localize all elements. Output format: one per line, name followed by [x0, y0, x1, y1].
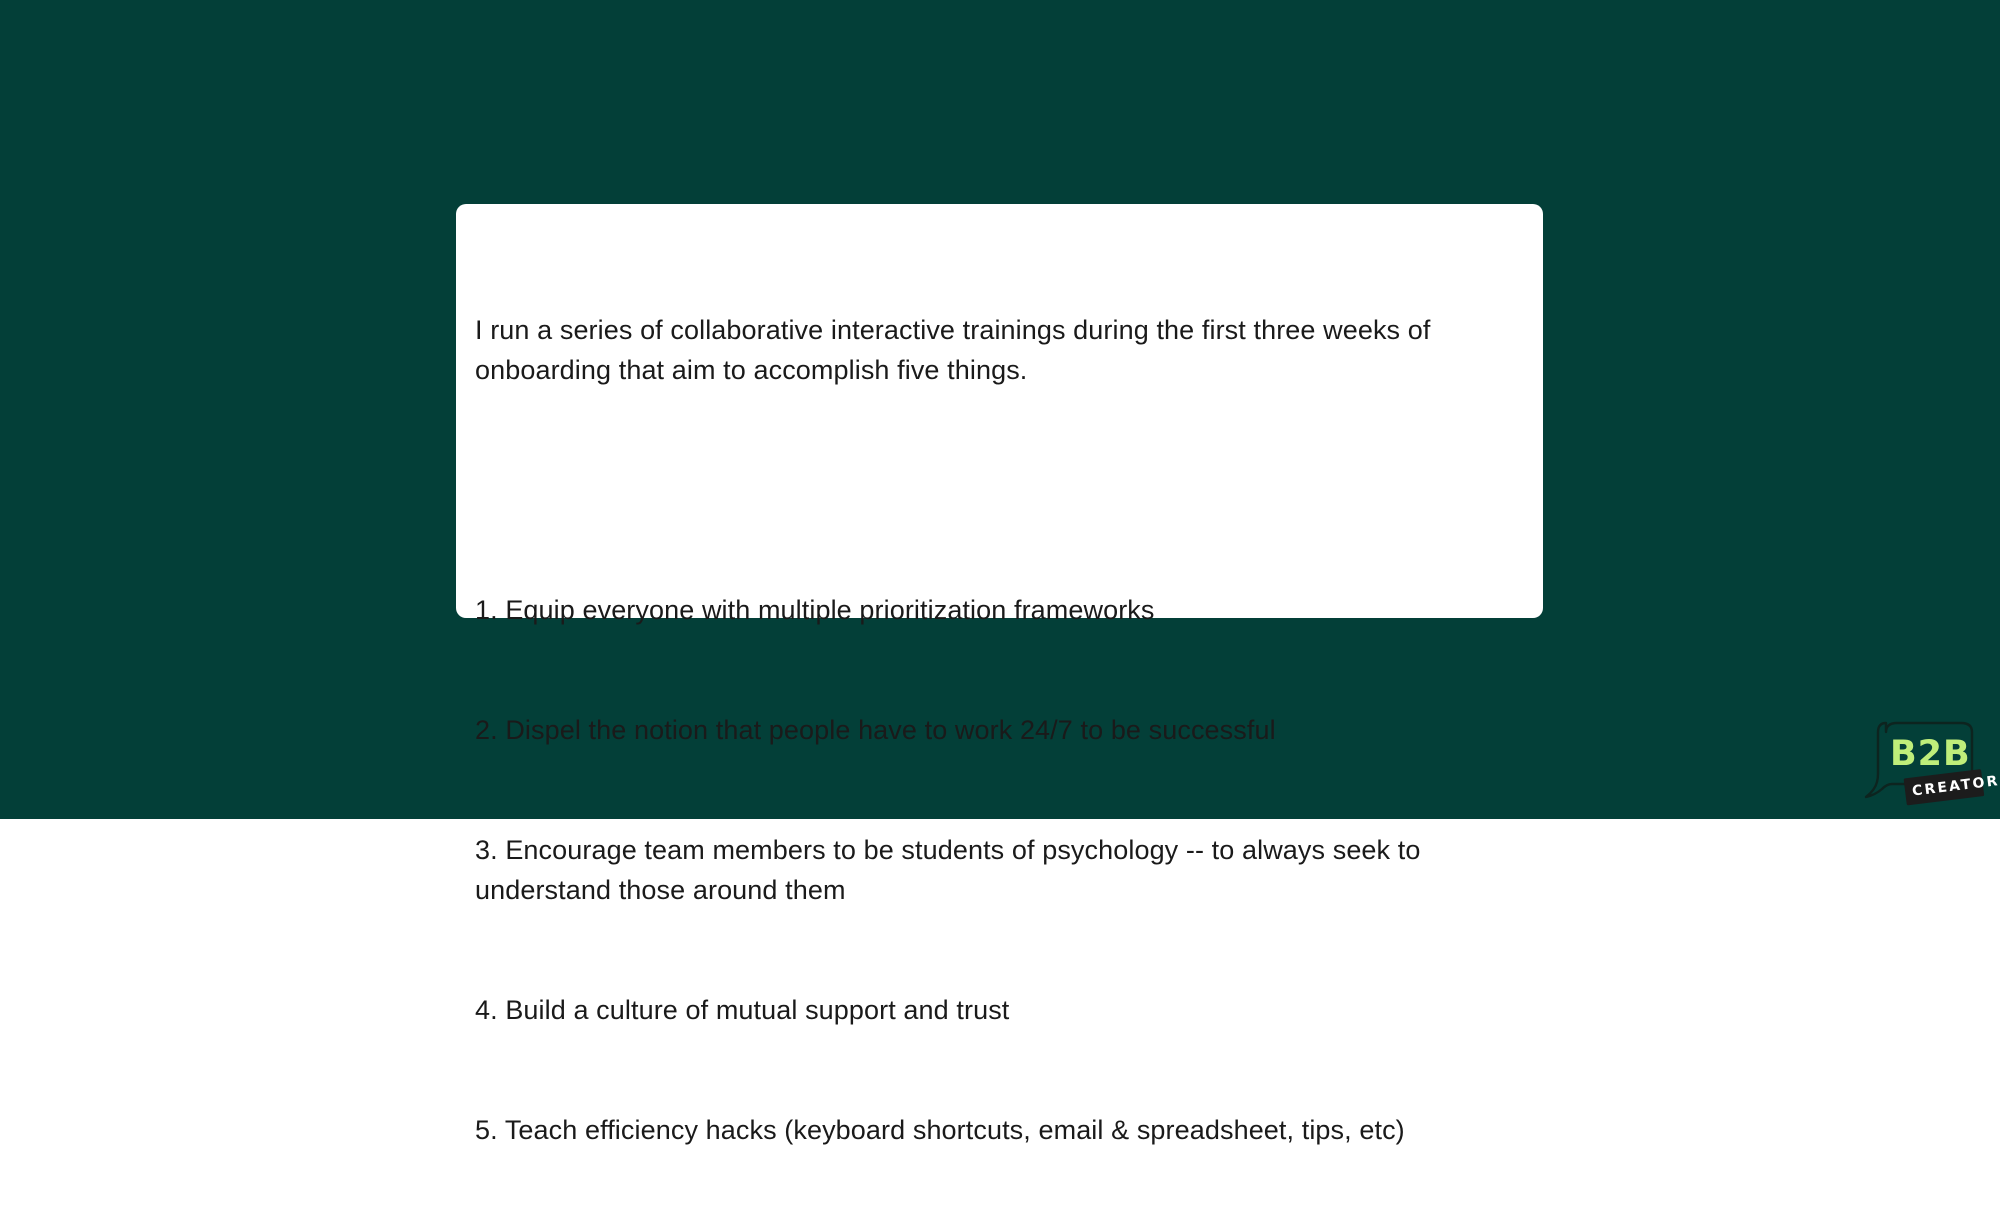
quote-card: I run a series of collaborative interact… — [456, 204, 1543, 618]
quote-line-item-1: 1. Equip everyone with multiple prioriti… — [475, 590, 1519, 630]
logo-primary-text: B2B — [1890, 734, 1971, 774]
screenshot-canvas: I run a series of collaborative interact… — [0, 0, 2000, 819]
quote-line-item-3: 3. Encourage team members to be students… — [475, 830, 1519, 910]
quote-line-item-4: 4. Build a culture of mutual support and… — [475, 990, 1519, 1030]
b2b-creator-logo: B2B CREATOR — [1858, 712, 1986, 812]
quote-line-item-5: 5. Teach efficiency hacks (keyboard shor… — [475, 1110, 1519, 1150]
quote-line-item-2: 2. Dispel the notion that people have to… — [475, 710, 1519, 750]
quote-line-spacer — [475, 470, 1519, 510]
quote-text-block: I run a series of collaborative interact… — [475, 230, 1519, 1230]
quote-line-intro: I run a series of collaborative interact… — [475, 310, 1519, 390]
